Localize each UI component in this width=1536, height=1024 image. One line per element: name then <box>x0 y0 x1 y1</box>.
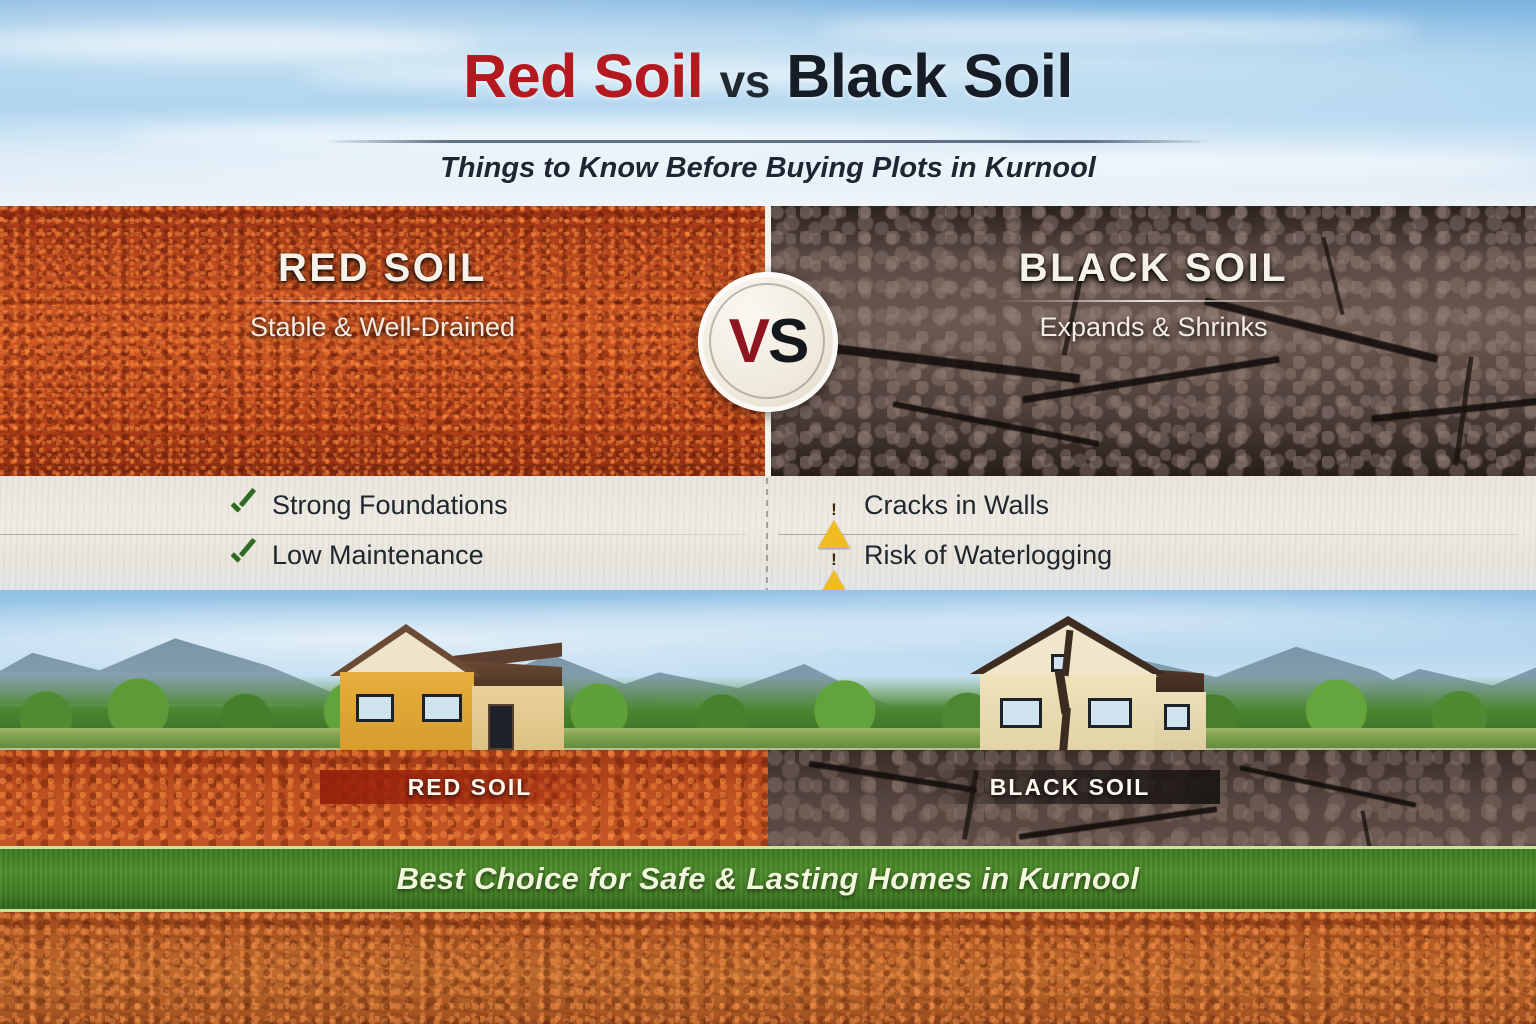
page-title: Red Soil vs Black Soil <box>0 46 1536 107</box>
intact-house <box>322 608 562 750</box>
tree-line <box>0 676 1536 736</box>
bottom-soil-strip <box>0 912 1536 1024</box>
feature-row-separator <box>778 534 1518 535</box>
warning-icon: ! <box>818 542 850 570</box>
footer-banner-text: Best Choice for Safe & Lasting Homes in … <box>397 861 1140 897</box>
check-icon <box>228 491 258 521</box>
soil-crack <box>1019 806 1218 840</box>
cracked-house <box>958 608 1208 750</box>
footer-banner: Best Choice for Safe & Lasting Homes in … <box>0 846 1536 912</box>
black-soil-feature-column: ! Cracks in Walls ! Risk of Waterlogging <box>768 476 1536 596</box>
red-soil-panel: RED SOIL Stable & Well-Drained <box>0 206 765 476</box>
black-soil-subtitle: Expands & Shrinks <box>771 312 1536 343</box>
cloud-wisp <box>820 18 1420 42</box>
house-window <box>1000 698 1042 728</box>
versus-badge: VS <box>698 272 838 412</box>
feature-label: Risk of Waterlogging <box>864 540 1112 571</box>
feature-lists-band: Strong Foundations Low Maintenance ! Cra… <box>0 476 1536 596</box>
warning-triangle <box>818 540 850 598</box>
black-soil-label-group: BLACK SOIL Expands & Shrinks <box>771 246 1536 343</box>
house-window <box>1088 698 1132 728</box>
title-divider-rule <box>323 140 1213 143</box>
title-red-soil: Red Soil <box>463 42 703 110</box>
warning-exclamation: ! <box>831 551 837 568</box>
warning-triangle <box>818 490 850 548</box>
house-window <box>422 694 462 722</box>
infographic-poster: Red Soil vs Black Soil Things to Know Be… <box>0 0 1536 1024</box>
red-soil-feature-column: Strong Foundations Low Maintenance <box>0 476 766 596</box>
title-black-soil: Black Soil <box>786 42 1073 110</box>
grass-field <box>0 728 1536 750</box>
red-soil-title: RED SOIL <box>0 246 765 291</box>
versus-letter-s: S <box>768 307 807 376</box>
page-subtitle: Things to Know Before Buying Plots in Ku… <box>0 152 1536 185</box>
feature-label: Low Maintenance <box>272 540 484 571</box>
feature-item: ! Cracks in Walls <box>818 490 1049 521</box>
feature-item: Strong Foundations <box>228 490 508 521</box>
house-window <box>1164 704 1190 730</box>
house-door <box>488 704 514 750</box>
warning-exclamation: ! <box>831 501 837 518</box>
feature-item: ! Risk of Waterlogging <box>818 540 1112 571</box>
black-soil-rule <box>999 300 1309 302</box>
cloud-wisp <box>120 120 1020 152</box>
red-soil-subtitle: Stable & Well-Drained <box>0 312 765 343</box>
feature-label: Cracks in Walls <box>864 490 1049 521</box>
house-wing-body <box>472 686 564 750</box>
black-soil-panel: BLACK SOIL Expands & Shrinks <box>771 206 1536 476</box>
title-vs: vs <box>720 55 770 107</box>
warning-icon: ! <box>818 492 850 520</box>
versus-letter-v: V <box>729 307 768 376</box>
red-soil-ground-tag: RED SOIL <box>320 770 620 804</box>
feature-row-separator <box>0 534 748 535</box>
check-icon <box>228 541 258 571</box>
versus-badge-text: VS <box>729 311 808 373</box>
red-soil-label-group: RED SOIL Stable & Well-Drained <box>0 246 765 343</box>
house-window <box>356 694 394 722</box>
red-soil-rule <box>228 300 538 302</box>
soil-crack <box>1239 765 1416 807</box>
black-soil-ground-tag: BLACK SOIL <box>920 770 1220 804</box>
feature-item: Low Maintenance <box>228 540 484 571</box>
black-soil-title: BLACK SOIL <box>771 246 1536 291</box>
feature-label: Strong Foundations <box>272 490 508 521</box>
